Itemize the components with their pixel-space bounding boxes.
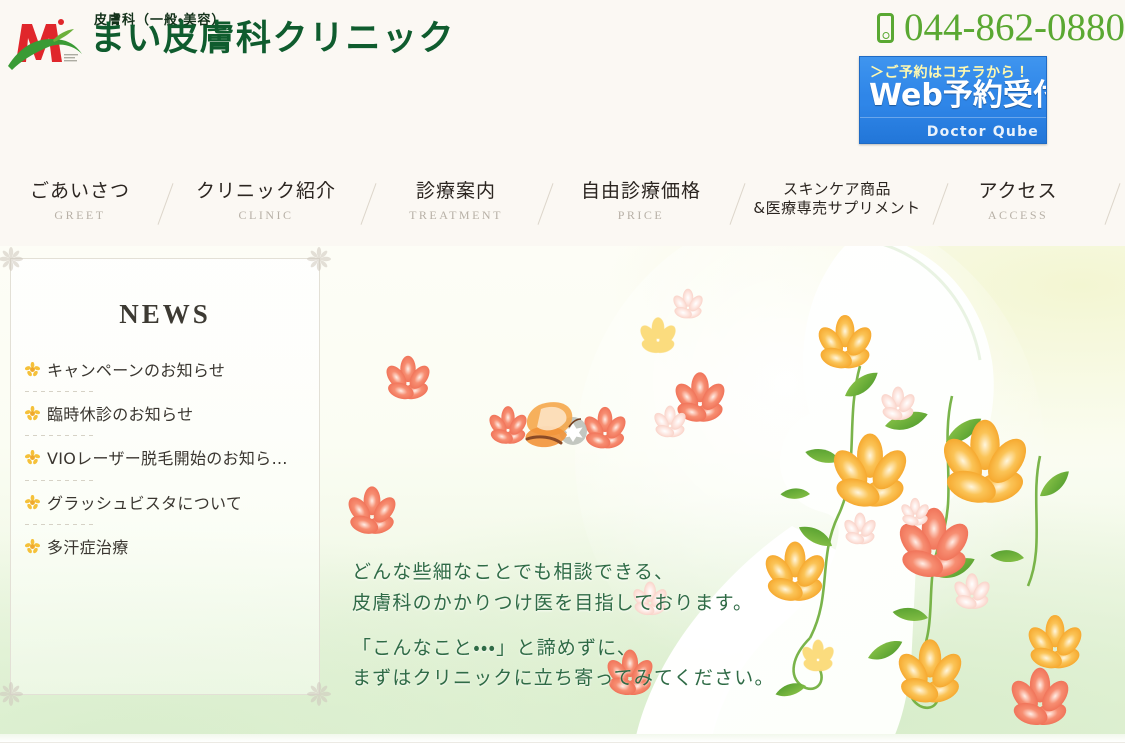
nav-item-label-en: PRICE [578,208,704,223]
mobile-phone-icon [877,13,894,43]
tagline-line: 「こんなこと・・・」と諦めずに、 [352,633,775,664]
news-list: キャンペーンのお知らせ臨時休診のお知らせVIOレーザー脱毛開始のお知ら…グラッシ… [11,359,319,559]
nav-separator [538,183,554,225]
news-item-label: VIOレーザー脱毛開始のお知ら… [47,449,288,468]
news-list-item[interactable]: キャンペーンのお知らせ [11,359,319,382]
nav-item-clinic[interactable]: クリニック紹介CLINIC [196,180,336,223]
flower-bullet-icon [25,450,40,465]
nav-item-greet[interactable]: ごあいさつGREET [30,180,130,223]
button-divider [860,117,1046,118]
nav-item-label-en: CLINIC [196,208,336,223]
nav-item-treatment[interactable]: 診療案内TREATMENT [400,180,512,223]
tagline-line: どんな些細なことでも相談できる、 [352,557,775,588]
news-list-item[interactable]: 多汗症治療 [11,536,319,559]
news-item-label: グラッシュビスタについて [47,494,242,513]
news-item-divider [25,524,97,525]
nav-item-label-ja: クリニック紹介 [196,180,336,204]
page-bottom-strip [0,742,1125,750]
news-item-link[interactable]: 臨時休診のお知らせ [25,403,307,426]
nav-item-label-en: ACCESS [972,208,1064,223]
news-item-label: キャンペーンのお知らせ [47,361,225,380]
news-heading: NEWS [11,299,319,330]
nav-separator [1105,183,1121,225]
nav-item-label-ja: 診療案内 [400,180,512,204]
nav-item-access[interactable]: アクセスACCESS [972,180,1064,223]
news-list-item[interactable]: VIOレーザー脱毛開始のお知ら… [11,447,319,470]
flower-bullet-icon [25,539,40,554]
web-reservation-provider: Doctor Qube [927,124,1039,140]
nav-item-label-en: TREATMENT [400,208,512,223]
clinic-homepage: 皮膚科（一般・美容） まい皮膚科クリニック 044-862-0880 ＞ご予約は… [0,0,1125,750]
nav-item-label-ja: ごあいさつ [30,180,130,204]
news-item-divider [25,480,97,481]
news-item-link[interactable]: VIOレーザー脱毛開始のお知ら… [25,447,307,470]
web-reservation-title: Web予約受付 [869,81,1047,111]
news-item-link[interactable]: 多汗症治療 [25,536,307,559]
main-navigation: ごあいさつGREETクリニック紹介CLINIC診療案内TREATMENT自由診療… [0,166,1125,246]
news-list-item[interactable]: グラッシュビスタについて [11,492,319,515]
news-item-link[interactable]: グラッシュビスタについて [25,492,307,515]
flower-bullet-icon [25,495,40,510]
nav-item-skincare[interactable]: スキンケア商品&医療専売サプリメント [742,180,932,218]
flower-bullet-icon [25,362,40,377]
logo-mark-icon [6,10,84,72]
tagline-line: まずはクリニックに立ち寄ってみてください。 [352,663,775,694]
flower-bullet-icon [25,406,40,421]
web-reservation-button[interactable]: ＞ご予約はコチラから！ Web予約受付 Doctor Qube [859,56,1047,144]
news-list-item[interactable]: 臨時休診のお知らせ [11,403,319,426]
corner-ornament-icon [0,246,24,272]
phone-number-block[interactable]: 044-862-0880 [877,8,1125,47]
nav-item-label-ja: スキンケア商品 [742,180,932,199]
news-item-divider [25,435,97,436]
news-panel: NEWS キャンペーンのお知らせ臨時休診のお知らせVIOレーザー脱毛開始のお知ら… [10,258,320,695]
nav-item-price[interactable]: 自由診療価格PRICE [578,180,704,223]
tagline-line: 皮膚科のかかりつけ医を目指しております。 [352,588,775,619]
nav-separator [158,183,174,225]
hero-bottom-fade [0,734,1125,742]
nav-item-label-ja: アクセス [972,180,1064,204]
news-item-divider [25,391,97,392]
nav-item-label-ja: 自由診療価格 [578,180,704,204]
phone-number: 044-862-0880 [904,8,1125,47]
corner-ornament-icon [0,681,24,707]
news-item-label: 臨時休診のお知らせ [47,405,193,424]
logo-clinic-name: まい皮膚科クリニック [90,22,455,57]
corner-ornament-icon [306,681,332,707]
nav-separator [933,183,949,225]
news-item-link[interactable]: キャンペーンのお知らせ [25,359,307,382]
corner-ornament-icon [306,246,332,272]
nav-item-label-en: GREET [30,208,130,223]
nav-item-label-ja-line2: &医療専売サプリメント [742,199,932,218]
news-item-label: 多汗症治療 [47,538,129,557]
site-header: 皮膚科（一般・美容） まい皮膚科クリニック 044-862-0880 ＞ご予約は… [0,0,1125,166]
nav-separator [361,183,377,225]
hero-tagline: どんな些細なことでも相談できる、皮膚科のかかりつけ医を目指しております。「こんな… [352,557,775,694]
site-logo[interactable]: 皮膚科（一般・美容） まい皮膚科クリニック [6,6,84,72]
